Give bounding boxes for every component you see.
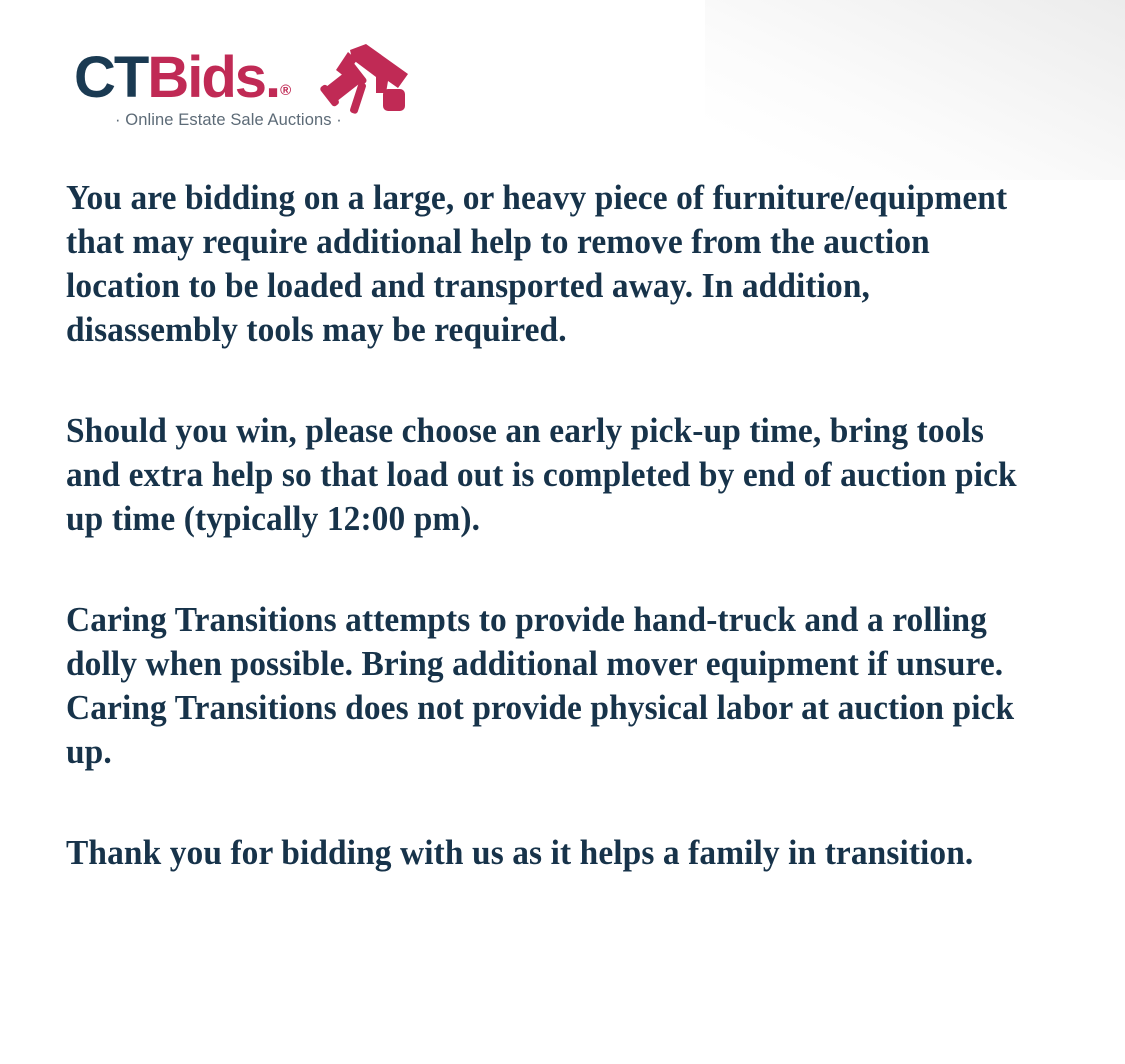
- paragraph-item-equipment-policy: Caring Transitions attempts to provide h…: [66, 598, 1026, 774]
- paragraph-item-pickup-instructions: Should you win, please choose an early p…: [66, 409, 1026, 541]
- ctbids-logo[interactable]: CTBids.® · Online Estate Sale Auctions ·: [74, 48, 419, 148]
- paragraph-item-closing-thanks: Thank you for bidding with us as it help…: [66, 831, 1026, 875]
- notice-page: CTBids.® · Online Estate Sale Auctions ·…: [0, 0, 1125, 1064]
- logo-text-bids: Bids: [147, 45, 265, 110]
- notice-body: You are bidding on a large, or heavy pie…: [66, 176, 1071, 875]
- logo-text-ct: CT: [74, 45, 147, 110]
- paragraph-item-warning: You are bidding on a large, or heavy pie…: [66, 176, 1026, 352]
- logo-tagline: · Online Estate Sale Auctions ·: [115, 111, 342, 130]
- logo-text-period: .: [265, 45, 279, 110]
- house-roof-gavel-icon: [312, 44, 410, 116]
- registered-trademark-icon: ®: [280, 82, 291, 99]
